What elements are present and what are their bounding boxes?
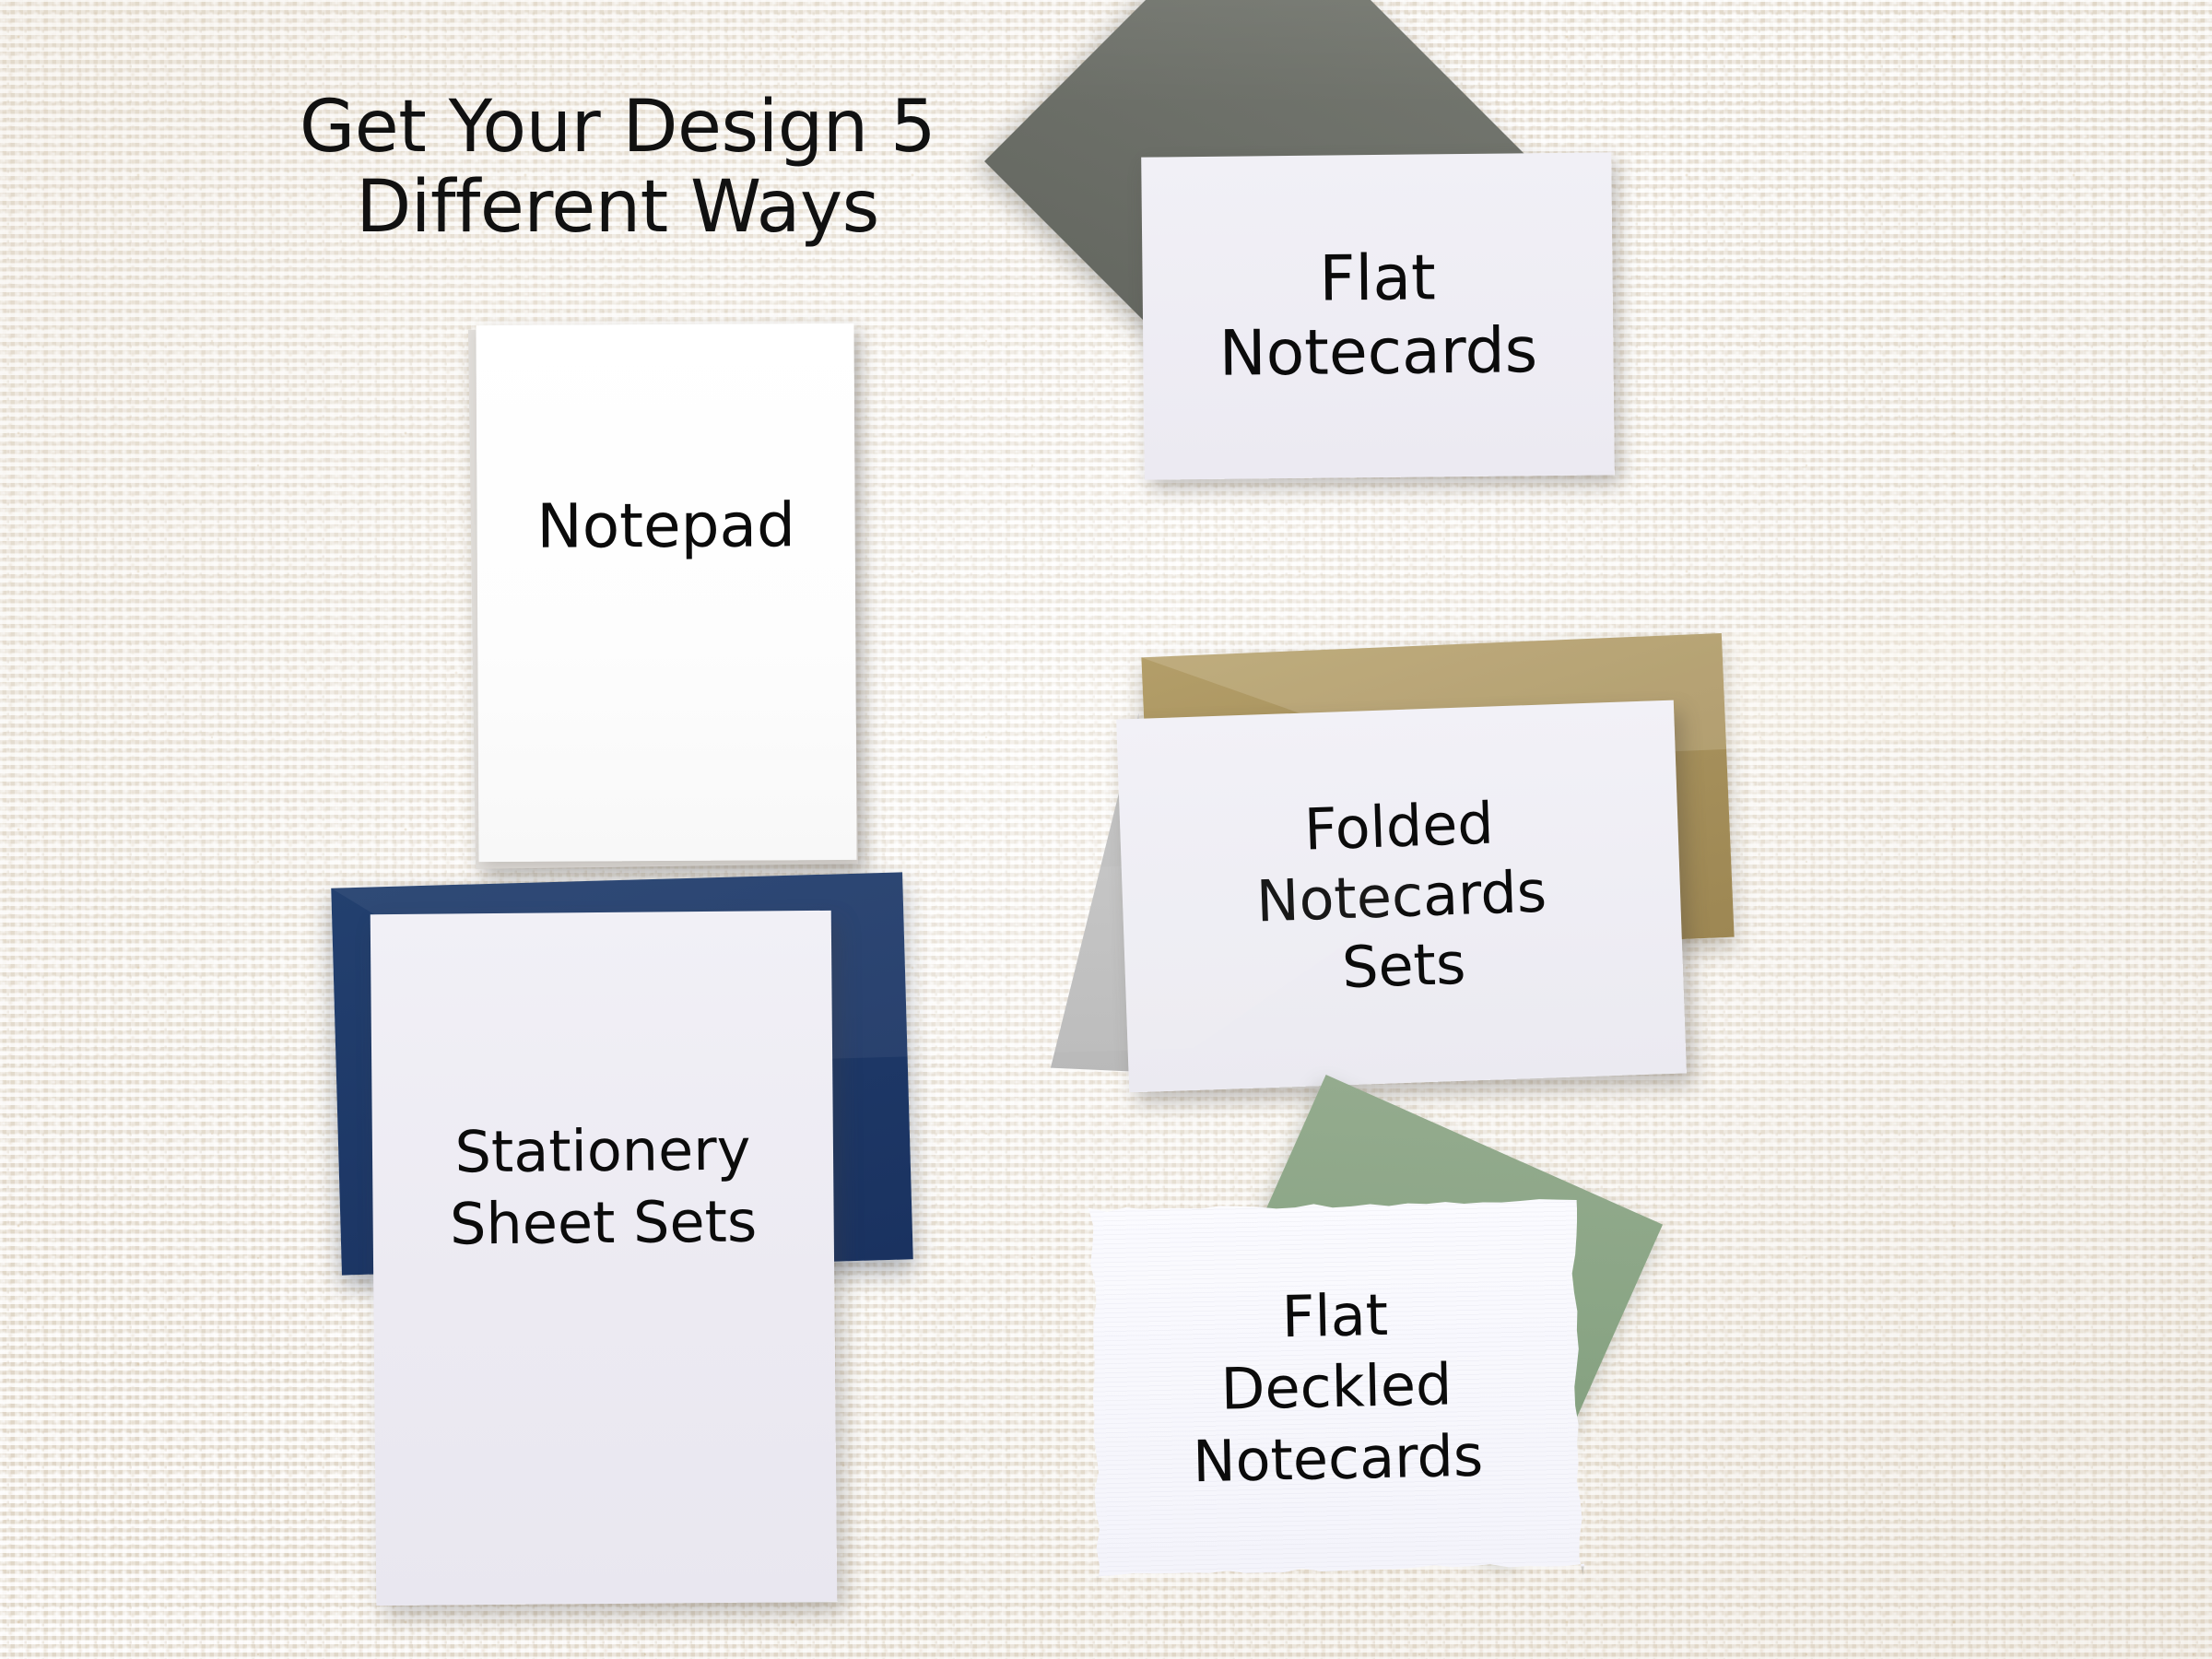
stationery-product-collage: Get Your Design 5 Different Ways Flat No… xyxy=(0,0,2212,1659)
stationery-sheet[interactable]: Stationery Sheet Sets xyxy=(371,911,838,1606)
flat-deckled-notecard[interactable]: Flat Deckled Notecards xyxy=(1088,1197,1584,1576)
page-title: Get Your Design 5 Different Ways xyxy=(249,88,986,249)
flat-notecard[interactable]: Flat Notecards xyxy=(1141,152,1615,479)
stationery-sheet-sets-label: Stationery Sheet Sets xyxy=(372,1113,834,1260)
flat-notecards-label: Flat Notecards xyxy=(1141,152,1615,479)
flat-deckled-notecards-label: Flat Deckled Notecards xyxy=(1088,1197,1584,1576)
notepad-label: Notepad xyxy=(477,489,854,562)
notepad[interactable]: Notepad xyxy=(476,324,856,862)
